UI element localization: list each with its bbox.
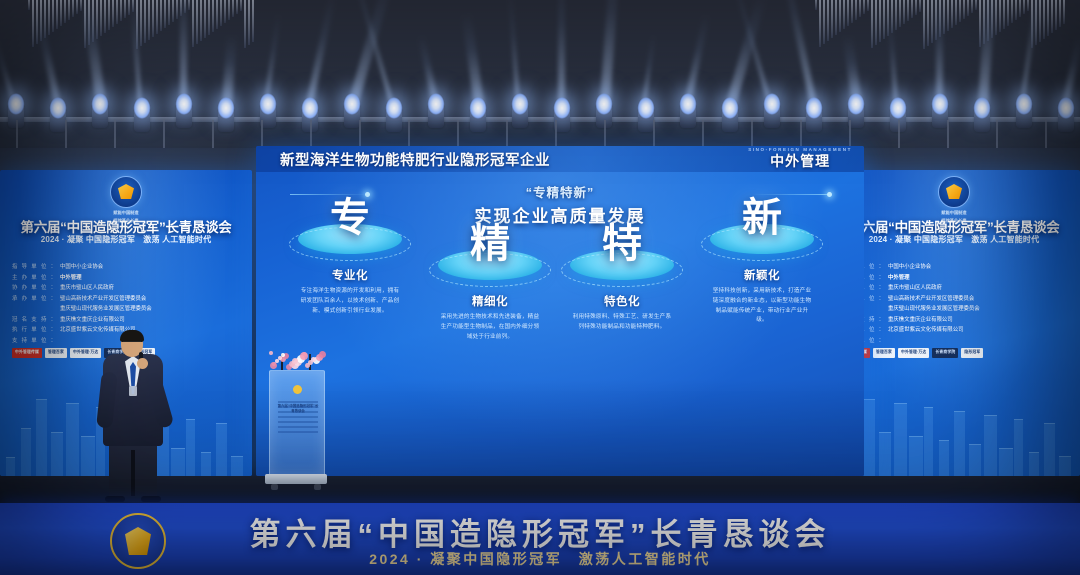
moving-head-light xyxy=(470,108,486,132)
moving-head-light xyxy=(1058,108,1074,132)
truss-leg xyxy=(604,120,606,148)
organizer-row: 承办单位：璧山高新技术产业开发区管理委员会 xyxy=(840,294,1068,305)
support-chip: 管理百家 xyxy=(873,348,895,357)
truss-leg xyxy=(653,120,655,148)
organizer-row: 重庆璧山现代服务业发展区管理委员会 xyxy=(12,304,240,315)
truss-leg xyxy=(16,120,18,148)
pillar-title: 精细化 xyxy=(424,293,556,309)
organizer-value: 中国中小企业协会 xyxy=(888,262,931,273)
pillar-character: 专 xyxy=(284,198,416,238)
front-stage-banner: 第六届“中国造隐形冠军”长青恳谈会 2024 · 凝聚中国隐形冠军 激荡人工智能… xyxy=(0,503,1080,575)
podium-panel: 第六届“中国造隐形冠军”长青恳谈会 xyxy=(269,370,325,476)
support-chip: 管理百家 xyxy=(45,348,67,357)
moving-head-light xyxy=(764,104,780,128)
truss-leg xyxy=(800,120,802,148)
speaker-person xyxy=(95,332,171,500)
moving-head-light xyxy=(932,104,948,128)
truss-leg xyxy=(114,120,116,148)
emblem-badge-icon xyxy=(110,176,142,208)
organizer-value: 重庆璧山现代服务业发展区管理委员会 xyxy=(60,304,152,315)
chandelier-left xyxy=(28,0,258,56)
organizer-label: 指导单位： xyxy=(12,262,56,273)
light-beam xyxy=(936,0,943,104)
ceiling-truss-area xyxy=(0,0,1080,148)
organizer-label: 支持单位： xyxy=(12,336,56,347)
pillar-3: 特特色化利用特殊原料、特殊工艺、研发生产系列特殊功能制品和功能特种肥料。 xyxy=(556,224,688,333)
support-logo-chips: 中外管理传媒管理百家中外管理·万达长青商学院隐形冠军 xyxy=(840,348,1068,357)
flower-arrangement xyxy=(267,350,325,372)
organizer-label xyxy=(12,304,56,315)
lectern: 第六届“中国造隐形冠军”长青恳谈会 xyxy=(265,358,327,498)
organizer-row: 指导单位：中国中小企业协会 xyxy=(840,262,1068,273)
moving-head-light xyxy=(50,108,66,132)
pillar-2: 精精细化采用先进的生物技术和先进装备，精益生产功能型生物制品，在国内外细分领域处… xyxy=(424,224,556,342)
truss-leg xyxy=(898,120,900,148)
truss-leg xyxy=(996,120,998,148)
organizer-row: 冠名支持：重庆樵文重庆企业有限公司 xyxy=(840,315,1068,326)
truss-leg xyxy=(359,120,361,148)
light-beam xyxy=(180,0,187,104)
moving-head-light xyxy=(512,104,528,128)
organizer-row: 承办单位：璧山高新技术产业开发区管理委员会 xyxy=(12,294,240,305)
pillar-character: 精 xyxy=(424,224,556,264)
truss-leg xyxy=(751,120,753,148)
moving-head-light xyxy=(134,108,150,132)
truss-leg xyxy=(947,120,949,148)
organizer-label: 主办单位： xyxy=(12,273,56,284)
truss-leg xyxy=(261,120,263,148)
truss-leg xyxy=(408,120,410,148)
organizer-row: 协办单位：重庆市璧山区人民政府 xyxy=(12,283,240,294)
pillar-title: 专业化 xyxy=(284,267,416,283)
city-skyline-right xyxy=(828,356,1080,476)
organizer-value: 中外管理 xyxy=(888,273,910,284)
front-banner-subtitle: 2024 · 凝聚中国隐形冠军 激荡人工智能时代 xyxy=(0,549,1080,569)
support-chip: 中外管理·万达 xyxy=(898,348,929,357)
organizer-list-right: 指导单位：中国中小企业协会主办单位：中外管理协办单位：重庆市璧山区人民政府承办单… xyxy=(840,262,1068,358)
truss-leg xyxy=(1045,120,1047,148)
pillar-character: 特 xyxy=(556,224,688,264)
moving-head-light xyxy=(722,108,738,132)
podium-caster-right xyxy=(314,484,321,490)
truss-leg xyxy=(65,120,67,148)
moving-head-light xyxy=(176,104,192,128)
moving-head-light xyxy=(974,108,990,132)
truss-leg xyxy=(555,120,557,148)
support-chip: 中外管理传媒 xyxy=(12,348,42,357)
pillar-1: 专专业化专注海洋生物资源的开发和利用，拥有研发团队百余人，以技术创新、产品创新、… xyxy=(284,198,416,316)
side-banner-title: 第六届“中国造隐形冠军”长青恳谈会 xyxy=(0,216,252,236)
moving-head-light xyxy=(218,108,234,132)
podium-text-lines xyxy=(278,401,318,436)
organizer-value: 璧山高新技术产业开发区管理委员会 xyxy=(888,294,974,305)
light-beam xyxy=(558,0,565,104)
side-banner-title: 第六届“中国造隐形冠军”长青恳谈会 xyxy=(828,216,1080,236)
side-banner-subtitle: 2024 · 凝聚 中国隐形冠军 激荡 人工智能时代 xyxy=(0,234,252,245)
side-banner-right: 赋能中国制造 铸就基业长青 第六届“中国造隐形冠军”长青恳谈会 2024 · 凝… xyxy=(828,170,1080,476)
podium-emblem-icon xyxy=(293,385,302,394)
pillar-character: 新 xyxy=(696,198,828,238)
truss-leg xyxy=(457,120,459,148)
emblem-badge-icon xyxy=(938,176,970,208)
stage-scene: 赋能中国制造 铸就基业长青 第六届“中国造隐形冠军”长青恳谈会 2024 · 凝… xyxy=(0,0,1080,575)
organizer-value: 璧山高新技术产业开发区管理委员会 xyxy=(60,294,146,305)
speaker-legs xyxy=(109,442,157,500)
organizer-value: 重庆市璧山区人民政府 xyxy=(888,283,942,294)
organizer-label: 冠名支持： xyxy=(12,315,56,326)
front-banner-title: 第六届“中国造隐形冠军”长青恳谈会 xyxy=(0,509,1080,554)
truss-leg xyxy=(702,120,704,148)
support-chip: 长青商学院 xyxy=(932,348,958,357)
pillar-group: 专专业化专注海洋生物资源的开发和利用，拥有研发团队百余人，以技术创新、产品创新、… xyxy=(256,146,864,476)
organizer-row: 冠名支持：重庆樵文重庆企业有限公司 xyxy=(12,315,240,326)
lighting-truss xyxy=(0,117,1080,122)
truss-leg xyxy=(506,120,508,148)
organizer-value: 重庆市璧山区人民政府 xyxy=(60,283,114,294)
moving-head-light xyxy=(344,104,360,128)
podium-base xyxy=(265,474,327,484)
organizer-label: 执行单位： xyxy=(12,325,56,336)
podium-caster-left xyxy=(271,484,278,490)
organizer-label: 承办单位： xyxy=(12,294,56,305)
organizer-label: 协办单位： xyxy=(12,283,56,294)
organizer-value: 重庆樵文重庆企业有限公司 xyxy=(888,315,953,326)
moving-head-light xyxy=(806,108,822,132)
organizer-value: 中国中小企业协会 xyxy=(60,262,103,273)
truss-leg xyxy=(310,120,312,148)
glasses-icon xyxy=(123,341,141,346)
moving-head-light xyxy=(680,104,696,128)
moving-head-light xyxy=(428,104,444,128)
organizer-row: 指导单位：中国中小企业协会 xyxy=(12,262,240,273)
speaker-hand xyxy=(137,358,148,369)
moving-head-light xyxy=(386,108,402,132)
organizer-value: 重庆樵文重庆企业有限公司 xyxy=(60,315,125,326)
truss-leg xyxy=(212,120,214,148)
moving-head-light xyxy=(638,108,654,132)
truss-leg xyxy=(163,120,165,148)
organizer-value: 中外管理 xyxy=(60,273,82,284)
moving-head-light xyxy=(92,104,108,128)
truss-leg xyxy=(849,120,851,148)
pillar-4: 新新颖化坚持科技创新，采用新技术，打造产业链深度融合的新业态，以新型功能生物制品… xyxy=(696,198,828,326)
organizer-row: 重庆璧山现代服务业发展区管理委员会 xyxy=(840,304,1068,315)
speaker-shoe-left xyxy=(105,496,125,502)
organizer-row: 支持单位： xyxy=(840,336,1068,347)
pillar-description: 专注海洋生物资源的开发和利用，拥有研发团队百余人，以技术创新、产品创新、模式创新… xyxy=(284,287,416,316)
pillar-description: 利用特殊原料、特殊工艺、研发生产系列特殊功能制品和功能特种肥料。 xyxy=(556,313,688,333)
organizer-value: 重庆璧山现代服务业发展区管理委员会 xyxy=(888,304,980,315)
pillar-description: 坚持科技创新，采用新技术，打造产业链深度融合的新业态，以新型功能生物制品赋能传统… xyxy=(696,287,828,326)
organizer-value: 北京盛世紫云文化传媒有限公司 xyxy=(888,325,963,336)
side-banner-subtitle: 2024 · 凝聚 中国隐形冠军 激荡 人工智能时代 xyxy=(828,234,1080,245)
pillar-description: 采用先进的生物技术和先进装备，精益生产功能型生物制品，在国内外细分领域处于行业前… xyxy=(424,313,556,342)
support-chip: 隐形冠军 xyxy=(961,348,983,357)
pillar-title: 新颖化 xyxy=(696,267,828,283)
main-led-screen: 新型海洋生物功能特肥行业隐形冠军企业 SINO-FOREIGN MANAGEME… xyxy=(256,146,864,476)
pillar-title: 特色化 xyxy=(556,293,688,309)
speaker-lanyard-badge xyxy=(129,386,137,396)
organizer-row: 执行单位：北京盛世紫云文化传媒有限公司 xyxy=(840,325,1068,336)
organizer-row: 主办单位：中外管理 xyxy=(840,273,1068,284)
speaker-shoe-right xyxy=(141,496,161,502)
organizer-row: 主办单位：中外管理 xyxy=(12,273,240,284)
moving-head-light xyxy=(1016,104,1032,128)
organizer-row: 协办单位：重庆市璧山区人民政府 xyxy=(840,283,1068,294)
